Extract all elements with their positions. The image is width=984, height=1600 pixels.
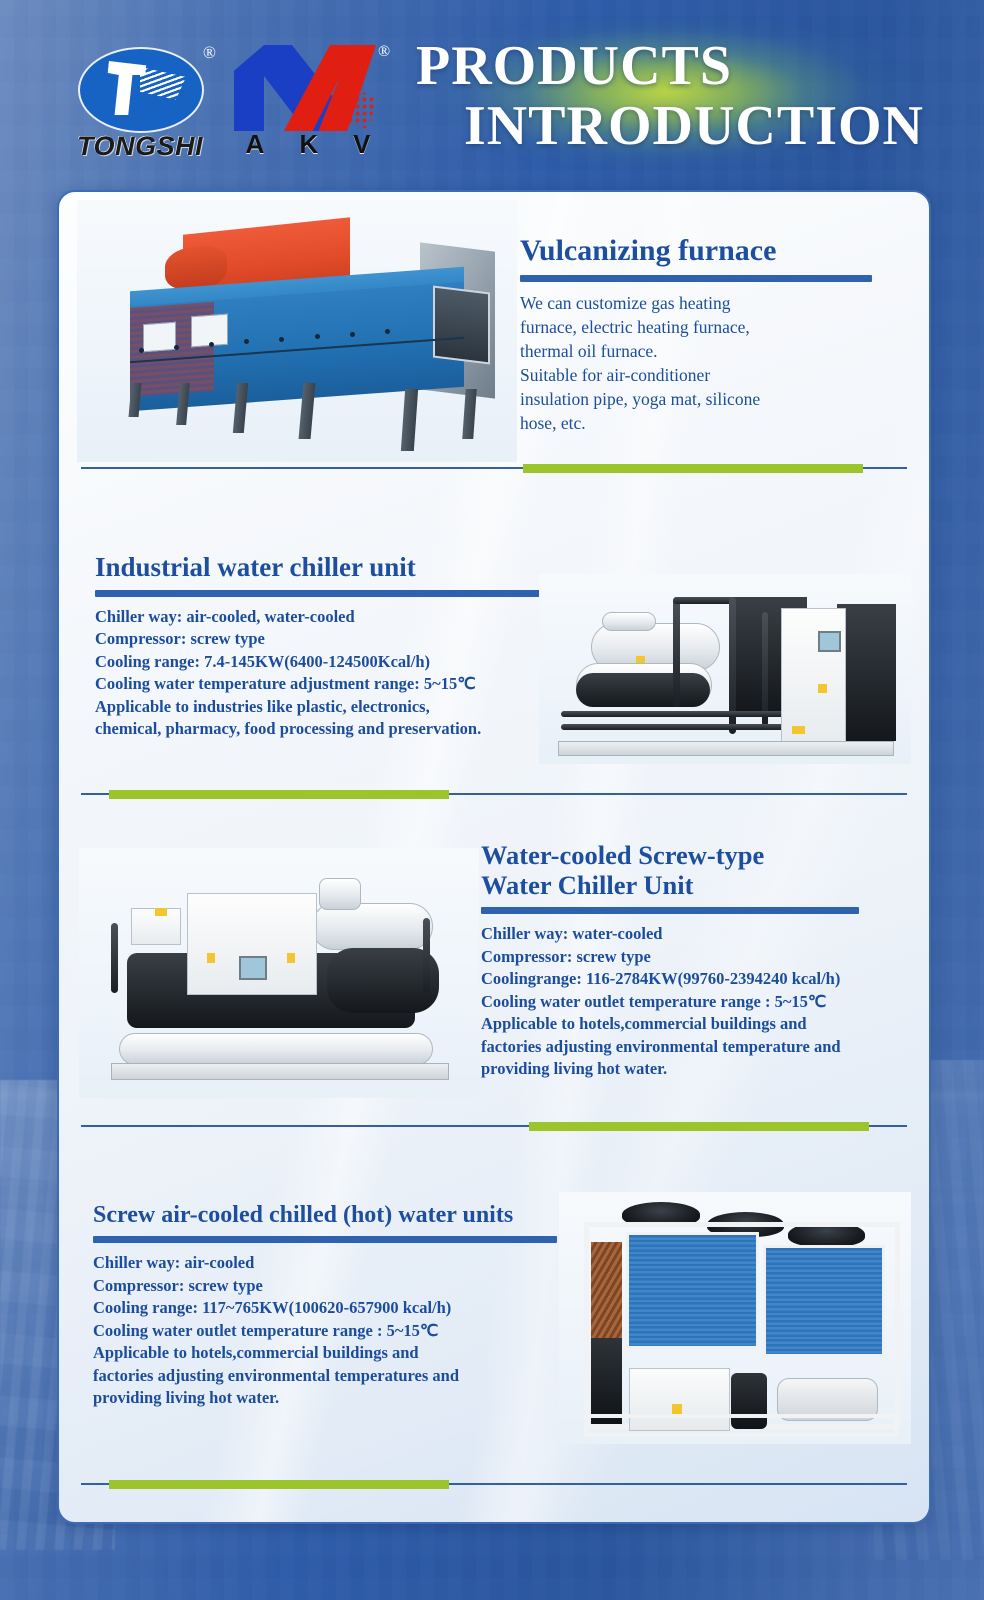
- section-vulcanizing-furnace-image: [77, 200, 517, 462]
- screw-chiller-pipe-left: [111, 923, 118, 993]
- section-body-water-cooled-screw: Chiller way: water-cooled Compressor: sc…: [481, 923, 901, 1081]
- chiller-pipe-riser-1: [673, 597, 680, 707]
- screw-chiller-label: [155, 908, 167, 916]
- divider-3: [81, 1122, 907, 1131]
- chiller-warning-label: [636, 656, 645, 664]
- page-header: ® TONGSHI ® A K V PRODUCTS INTRODUCTION: [0, 0, 984, 182]
- screw-chiller-display: [239, 956, 267, 980]
- air-cooled-base-frame: [584, 1414, 898, 1437]
- content-panel: Vulcanizing furnace We can customize gas…: [57, 190, 931, 1524]
- furnace-bolt: [315, 334, 320, 339]
- section-rule-2: [95, 590, 555, 597]
- akv-registered-icon: ®: [378, 43, 390, 61]
- industrial-water-chiller-photo: [539, 574, 911, 764]
- section-screw-air-cooled-text: Screw air-cooled chilled (hot) water uni…: [93, 1202, 563, 1410]
- section-body-screw-air-cooled: Chiller way: air-cooled Compressor: scre…: [93, 1252, 563, 1410]
- chiller-warning-label: [818, 684, 827, 693]
- section-vulcanizing-furnace-text: Vulcanizing furnace We can customize gas…: [520, 234, 912, 435]
- divider-2-accent: [109, 790, 449, 799]
- screw-chiller-label: [207, 953, 215, 963]
- section-body-industrial-chiller: Chiller way: air-cooled, water-cooled Co…: [95, 606, 565, 741]
- section-water-cooled-screw-image: [79, 848, 479, 1098]
- section-industrial-chiller-image: [539, 574, 911, 764]
- screw-air-cooled-chiller-photo: [559, 1192, 911, 1444]
- page-title-line-2: INTRODUCTION: [400, 96, 930, 156]
- page-title: PRODUCTS INTRODUCTION: [400, 36, 930, 156]
- divider-4: [81, 1480, 907, 1489]
- tongshi-registered-icon: ®: [203, 43, 216, 63]
- furnace-port-1: [143, 322, 176, 353]
- chiller-pipe-riser-3: [762, 612, 768, 726]
- furnace-bolt: [350, 332, 355, 337]
- furnace-opening: [433, 286, 490, 365]
- product-introduction-page: ® TONGSHI ® A K V PRODUCTS INTRODUCTION: [0, 0, 984, 1600]
- logo-group: ® TONGSHI ® A K V: [60, 45, 380, 170]
- divider-3-accent: [529, 1122, 869, 1131]
- section-industrial-chiller-text: Industrial water chiller unit Chiller wa…: [95, 552, 565, 741]
- chiller-control-screen: [818, 631, 841, 652]
- akv-letters: A K V: [228, 129, 388, 160]
- furnace-bolt: [385, 329, 390, 334]
- chiller-pipe-top-bend: [673, 597, 736, 604]
- section-rule-4: [93, 1236, 557, 1243]
- section-title-industrial-chiller: Industrial water chiller unit: [95, 552, 565, 583]
- section-screw-air-cooled-image: [559, 1192, 911, 1444]
- section-body-vulcanizing-furnace: We can customize gas heating furnace, el…: [520, 291, 912, 435]
- divider-1: [81, 464, 907, 473]
- air-cooled-warning-label: [672, 1404, 683, 1414]
- divider-1-accent: [523, 464, 863, 473]
- section-title-vulcanizing-furnace: Vulcanizing furnace: [520, 234, 912, 268]
- section-rule-3: [481, 907, 859, 914]
- screw-chiller-evaporator-shell: [119, 1033, 433, 1065]
- chiller-black-vessel: [576, 673, 710, 707]
- divider-4-accent: [109, 1480, 449, 1489]
- air-cooled-side-pipes: [591, 1338, 623, 1424]
- akv-letter-k: K: [299, 129, 318, 160]
- divider-2: [81, 790, 907, 799]
- tongshi-wordmark: TONGSHI: [60, 131, 220, 162]
- chiller-small-tank: [602, 612, 656, 631]
- section-rule-1: [520, 275, 872, 282]
- chiller-control-cabinet: [781, 608, 846, 743]
- water-cooled-screw-chiller-photo: [79, 848, 479, 1098]
- furnace-bolt: [139, 348, 144, 353]
- screw-chiller-control-cabinet: [187, 893, 317, 995]
- akv-logo: ® A K V: [228, 45, 388, 165]
- section-water-cooled-screw-text: Water-cooled Screw-type Water Chiller Un…: [481, 840, 901, 1081]
- air-cooled-condenser-coil-1: [626, 1232, 759, 1349]
- page-title-line-1: PRODUCTS: [400, 36, 930, 96]
- chiller-pipe-bottom-2: [561, 724, 792, 730]
- screw-chiller-base-frame: [111, 1063, 449, 1080]
- air-cooled-copper-tubing: [591, 1242, 623, 1343]
- akv-letter-a: A: [246, 129, 265, 160]
- akv-letter-v: V: [353, 129, 370, 160]
- section-title-water-cooled-screw: Water-cooled Screw-type Water Chiller Un…: [481, 840, 901, 900]
- chiller-base-frame: [558, 741, 895, 756]
- section-title-screw-air-cooled: Screw air-cooled chilled (hot) water uni…: [93, 1202, 563, 1229]
- tongshi-logo: ® TONGSHI: [60, 45, 220, 165]
- furnace-bolt: [174, 345, 179, 350]
- air-cooled-condenser-coil-2: [763, 1245, 885, 1357]
- vulcanizing-furnace-photo: [77, 200, 517, 462]
- chiller-pipe-bottom-1: [561, 711, 792, 717]
- screw-chiller-pipe-right: [423, 918, 430, 993]
- chiller-warning-label: [792, 726, 805, 734]
- screw-chiller-compressor-body: [311, 903, 433, 950]
- screw-chiller-label: [287, 953, 295, 963]
- screw-chiller-motor-head: [319, 878, 361, 910]
